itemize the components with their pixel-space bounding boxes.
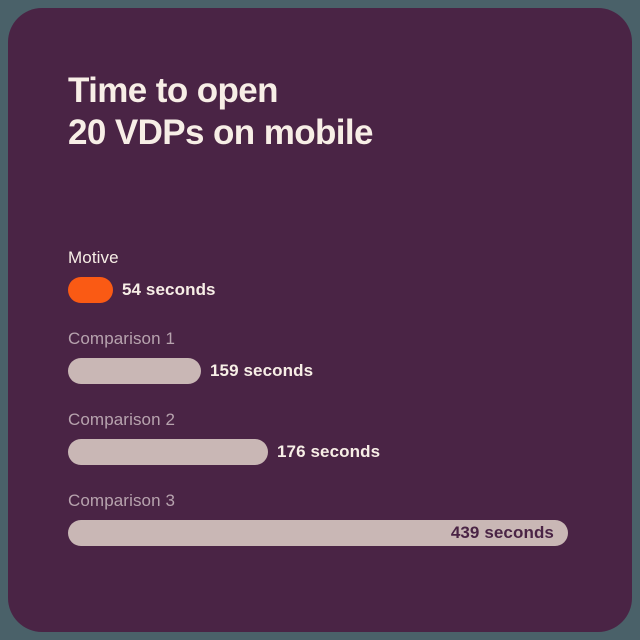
bar-chart: Motive 54 seconds Comparison 1 159 secon… <box>68 248 588 546</box>
bar-row-comparison-2: 176 seconds <box>68 439 588 465</box>
bar-value-motive: 54 seconds <box>122 280 216 300</box>
page-title-line-1: Time to open <box>68 70 568 112</box>
bar-label-comparison-1: Comparison 1 <box>68 329 588 349</box>
bar-group-comparison-2: Comparison 2 176 seconds <box>68 410 588 465</box>
bar-row-motive: 54 seconds <box>68 277 588 303</box>
bar-comparison-3: 439 seconds <box>68 520 568 546</box>
bar-motive <box>68 277 113 303</box>
bar-label-comparison-2: Comparison 2 <box>68 410 588 430</box>
page-title: Time to open 20 VDPs on mobile <box>68 70 568 154</box>
bar-group-comparison-3: Comparison 3 439 seconds <box>68 491 588 546</box>
bar-label-motive: Motive <box>68 248 588 268</box>
bar-value-comparison-3: 439 seconds <box>451 520 554 546</box>
bar-label-comparison-3: Comparison 3 <box>68 491 588 511</box>
bar-group-comparison-1: Comparison 1 159 seconds <box>68 329 588 384</box>
bar-comparison-2 <box>68 439 268 465</box>
bar-group-motive: Motive 54 seconds <box>68 248 588 303</box>
bar-comparison-1 <box>68 358 201 384</box>
bar-row-comparison-1: 159 seconds <box>68 358 588 384</box>
bar-value-comparison-2: 176 seconds <box>277 442 380 462</box>
bar-value-comparison-1: 159 seconds <box>210 361 313 381</box>
bar-row-comparison-3: 439 seconds <box>68 520 588 546</box>
chart-card: Time to open 20 VDPs on mobile Motive 54… <box>8 8 632 632</box>
page-title-line-2: 20 VDPs on mobile <box>68 112 568 154</box>
